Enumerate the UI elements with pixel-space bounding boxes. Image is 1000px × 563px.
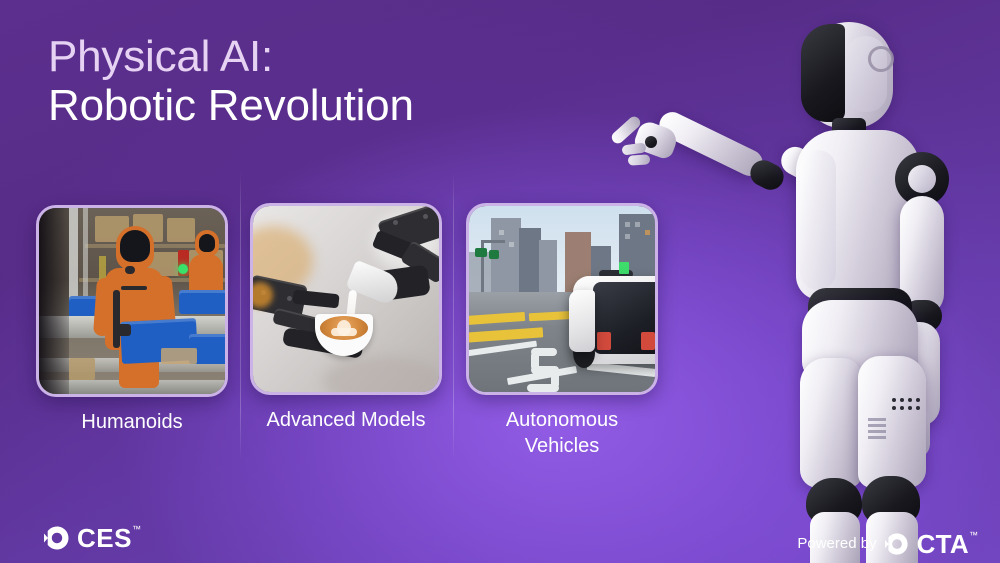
title-line-1: Physical AI: (48, 32, 414, 81)
robot-chest-panel (800, 150, 836, 290)
ces-logo: CES ™ (44, 525, 141, 551)
warehouse-box (161, 348, 197, 364)
robot-ear-sensor (868, 46, 894, 72)
column-divider-2 (453, 172, 454, 460)
background-robot-visor (199, 234, 215, 252)
robot-neck (125, 266, 135, 274)
vehicle-side-panel (569, 290, 595, 352)
robot-hand (115, 324, 131, 336)
street-sign (489, 250, 499, 259)
card-humanoids-image (36, 205, 228, 397)
cta-bubble-icon (885, 532, 909, 556)
warehouse-box (69, 358, 95, 380)
powered-by-label: Powered by (797, 534, 876, 554)
building (539, 240, 557, 292)
card-advanced-models[interactable]: Advanced Models (250, 203, 442, 433)
page-title: Physical AI: Robotic Revolution (48, 32, 414, 130)
robot-spine-strap (113, 290, 120, 348)
street-light-arm (481, 240, 505, 243)
building-window (499, 230, 504, 235)
ces-wordmark: CES (77, 525, 132, 551)
cta-logo: Powered by CTA ™ (797, 531, 978, 557)
card-humanoids-caption: Humanoids (36, 409, 228, 435)
gripper-bolt (393, 220, 398, 225)
robot-chest-slot (121, 286, 147, 290)
card-advanced-models-caption: Advanced Models (250, 407, 442, 433)
cta-wordmark: CTA (917, 531, 969, 557)
gripper-bolt (423, 214, 428, 219)
foreground-blur (39, 208, 69, 394)
slide-canvas: Physical AI: Robotic Revolution (0, 0, 1000, 563)
ces-trademark: ™ (132, 525, 141, 534)
latte-art (331, 328, 357, 336)
robot-vent-lines (868, 418, 886, 421)
street-sign (475, 248, 487, 257)
robot-visor (120, 230, 150, 262)
card-advanced-models-image (250, 203, 442, 395)
robot-finger (621, 142, 646, 155)
building (469, 252, 491, 292)
robot-shoulder-cap (908, 165, 936, 193)
road-letter-s (527, 384, 559, 392)
blue-bin (179, 290, 227, 314)
title-line-2: Robotic Revolution (48, 81, 414, 130)
robot-left-thigh (800, 358, 862, 488)
humanoid-robot-figure (600, 0, 1000, 563)
column-divider-1 (240, 172, 241, 460)
signal-light-green (178, 264, 188, 274)
robot-vent-dots (892, 398, 896, 402)
warehouse-box (167, 218, 195, 242)
gripper-bolt (287, 296, 292, 301)
robot-right-thigh (858, 356, 926, 488)
card-humanoids[interactable]: Humanoids (36, 205, 228, 435)
robot-finger (628, 154, 651, 166)
building-window (509, 242, 514, 247)
robot-knuckle-joint (645, 136, 657, 148)
robot-visor (801, 24, 845, 122)
background-blur-grey (323, 356, 442, 395)
cta-trademark: ™ (969, 531, 978, 540)
ces-bubble-icon (44, 525, 70, 551)
building (519, 228, 541, 292)
